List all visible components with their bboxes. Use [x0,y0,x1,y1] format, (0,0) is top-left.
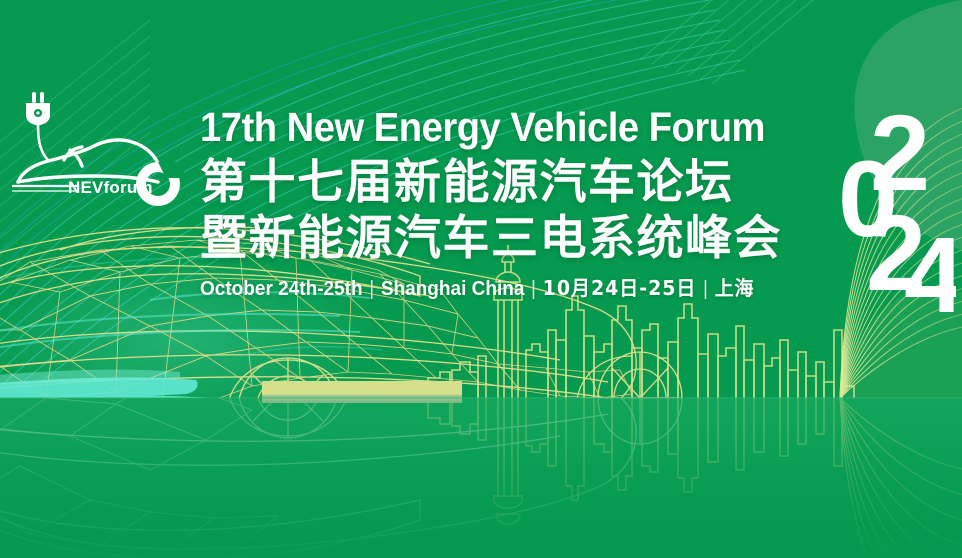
title-block: 17th New Energy Vehicle Forum 第十七届新能源汽车论… [200,104,860,301]
meta-location-cn: 上海 [715,276,755,300]
meta-date-cn: 10月24日-25日 [543,276,697,300]
event-meta: October 24th-25th|Shanghai China|10月24日-… [200,276,827,301]
logo-nev-text: NEV [68,178,104,197]
meta-separator-1: | [363,278,381,300]
year-2024: 2 0 2 4 [838,104,956,316]
cable-icon [38,125,48,160]
reflection-fade [0,430,962,558]
title-chinese-line1: 第十七届新能源汽车论坛 [200,155,860,211]
meta-location-en: Shanghai China [381,278,525,300]
meta-date-en: October 24th-25th [200,278,363,300]
charging-plug-icon [26,92,50,125]
title-chinese-line2: 暨新能源汽车三电系统峰会 [200,211,860,267]
meta-separator-3: | [696,278,714,300]
logo-forum-text: forum [104,178,153,197]
logo-wordmark: NEVforum [68,178,153,198]
event-poster: NEVforum 17th New Energy Vehicle Forum 第… [0,0,962,558]
title-english: 17th New Energy Vehicle Forum [200,104,814,151]
accent-bar [262,381,462,403]
meta-separator-2: | [524,278,542,300]
waterline [0,397,962,399]
year-digit-4: 4 [904,214,956,316]
